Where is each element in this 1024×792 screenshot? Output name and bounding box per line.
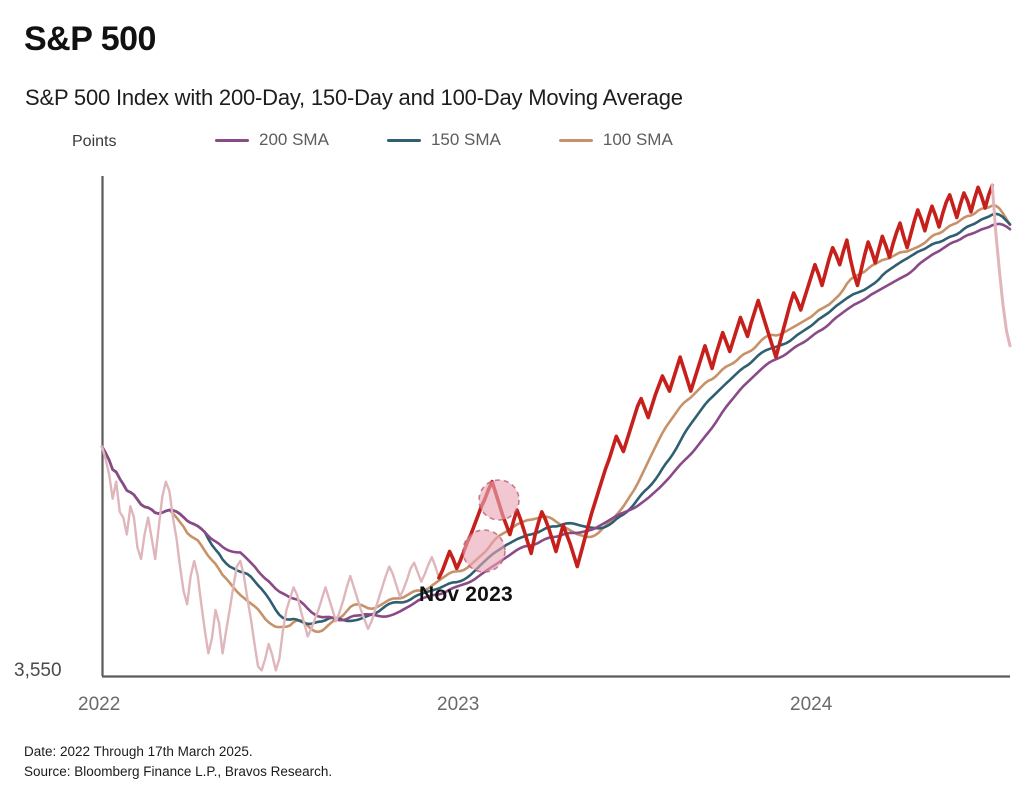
chart-series-layer [102, 185, 1010, 670]
series-line-150-sma [102, 214, 1010, 624]
legend-item-200-sma[interactable]: 200 SMA [215, 130, 329, 150]
annotation-marker-low [463, 530, 505, 572]
chart-page: S&P 500 S&P 500 Index with 200-Day, 150-… [0, 0, 1024, 792]
series-line-100-sma [102, 206, 1010, 632]
series-line-200-sma [102, 224, 1010, 620]
series-line-price-tail [992, 185, 1010, 345]
legend-label-150-sma: 150 SMA [431, 130, 501, 150]
chart-subtitle: S&P 500 Index with 200-Day, 150-Day and … [25, 85, 683, 111]
y-axis-unit-label: Points [72, 133, 116, 151]
series-line-price-faded [102, 447, 439, 671]
legend-swatch-200-sma [215, 139, 249, 142]
chart-footnote: Date: 2022 Through 17th March 2025. Sour… [24, 742, 332, 781]
chart-annotation-markers [463, 480, 519, 572]
series-line-price [439, 185, 992, 577]
footnote-date: Date: 2022 Through 17th March 2025. [24, 742, 332, 762]
x-axis-tick-2024: 2024 [790, 694, 832, 716]
legend-label-100-sma: 100 SMA [603, 130, 673, 150]
legend-label-200-sma: 200 SMA [259, 130, 329, 150]
legend-swatch-150-sma [387, 139, 421, 142]
legend-swatch-100-sma [559, 139, 593, 142]
legend-item-100-sma[interactable]: 100 SMA [559, 130, 673, 150]
y-axis-tick-3550: 3,550 [14, 660, 62, 682]
annotation-marker-crossover [479, 480, 519, 520]
chart-legend: 200 SMA 150 SMA 100 SMA [215, 130, 673, 150]
x-axis-tick-2022: 2022 [78, 694, 120, 716]
legend-item-150-sma[interactable]: 150 SMA [387, 130, 501, 150]
page-title: S&P 500 [24, 20, 156, 59]
chart-axes [102, 176, 1010, 677]
annotation-label-nov-2023: Nov 2023 [419, 583, 513, 607]
x-axis-tick-2023: 2023 [437, 694, 479, 716]
footnote-source: Source: Bloomberg Finance L.P., Bravos R… [24, 762, 332, 782]
chart-plot-area [0, 0, 1024, 792]
